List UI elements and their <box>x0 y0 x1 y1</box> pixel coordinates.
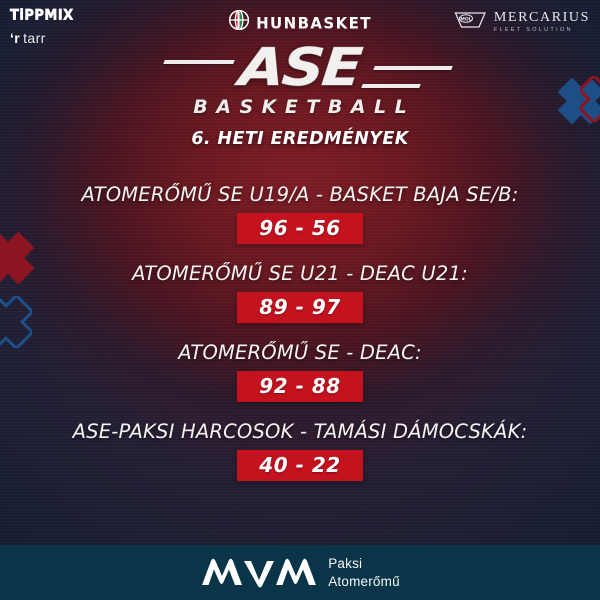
score-wrapper: 92 - 88 <box>0 371 600 402</box>
score-wrapper: 89 - 97 <box>0 292 600 323</box>
hunbasket-label: HUNBASKET <box>256 13 372 32</box>
score-badge: 96 - 56 <box>237 213 362 244</box>
ase-logo-word: ASE <box>237 44 362 93</box>
score-badge: 92 - 88 <box>237 371 362 402</box>
mercarius-name: MERCARIUS <box>494 11 590 25</box>
week-heading: 6. HETI EREDMÉNYEK <box>0 129 600 149</box>
tippmix-logo: TiPPMIX <box>10 7 74 24</box>
mvm-subtitle-line1: Paksi <box>328 555 400 572</box>
mercarius-logo: MOL MERCARIUS FLEET SOLUTION <box>454 10 590 35</box>
title-block: ASE BASKETBALL 6. HETI EREDMÉNYEK <box>0 44 600 149</box>
mvm-subtitle-line2: Atomerőmű <box>328 573 400 590</box>
match-teams: ATOMERŐMŰ SE U19/A - BASKET BAJA SE/B: <box>0 183 600 206</box>
mercarius-subtitle: FLEET SOLUTION <box>494 28 590 34</box>
basketball-icon <box>228 9 250 36</box>
score-wrapper: 40 - 22 <box>0 450 600 481</box>
footer-bar: Paksi Atomerőmű <box>0 545 600 600</box>
match-teams: ASE-PAKSI HARCOSOK - TAMÁSI DÁMOCSKÁK: <box>0 420 600 443</box>
result-row: ATOMERŐMŰ SE U21 - DEAC U21: 89 - 97 <box>0 262 600 323</box>
score-badge: 40 - 22 <box>237 450 362 481</box>
result-row: ASE-PAKSI HARCOSOK - TAMÁSI DÁMOCSKÁK: 4… <box>0 420 600 481</box>
match-teams: ATOMERŐMŰ SE U21 - DEAC U21: <box>0 262 600 285</box>
svg-text:MOL: MOL <box>460 17 471 23</box>
mvm-subtitle: Paksi Atomerőmű <box>328 555 400 590</box>
match-teams: ATOMERŐMŰ SE - DEAC: <box>0 341 600 364</box>
result-row: ATOMERŐMŰ SE - DEAC: 92 - 88 <box>0 341 600 402</box>
score-wrapper: 96 - 56 <box>0 213 600 244</box>
results-list: ATOMERŐMŰ SE U19/A - BASKET BAJA SE/B: 9… <box>0 183 600 499</box>
hunbasket-logo: HUNBASKET <box>228 9 372 36</box>
result-row: ATOMERŐMŰ SE U19/A - BASKET BAJA SE/B: 9… <box>0 183 600 244</box>
poster-canvas: TiPPMIX ʻr tarr HUNBASKET <box>0 0 600 600</box>
tippmix-label: TiPPMIX <box>10 7 74 24</box>
basketball-subtitle: BASKETBALL <box>0 96 600 118</box>
mvm-logo-icon <box>200 556 318 590</box>
mol-badge-icon: MOL <box>454 10 488 35</box>
score-badge: 89 - 97 <box>237 292 362 323</box>
